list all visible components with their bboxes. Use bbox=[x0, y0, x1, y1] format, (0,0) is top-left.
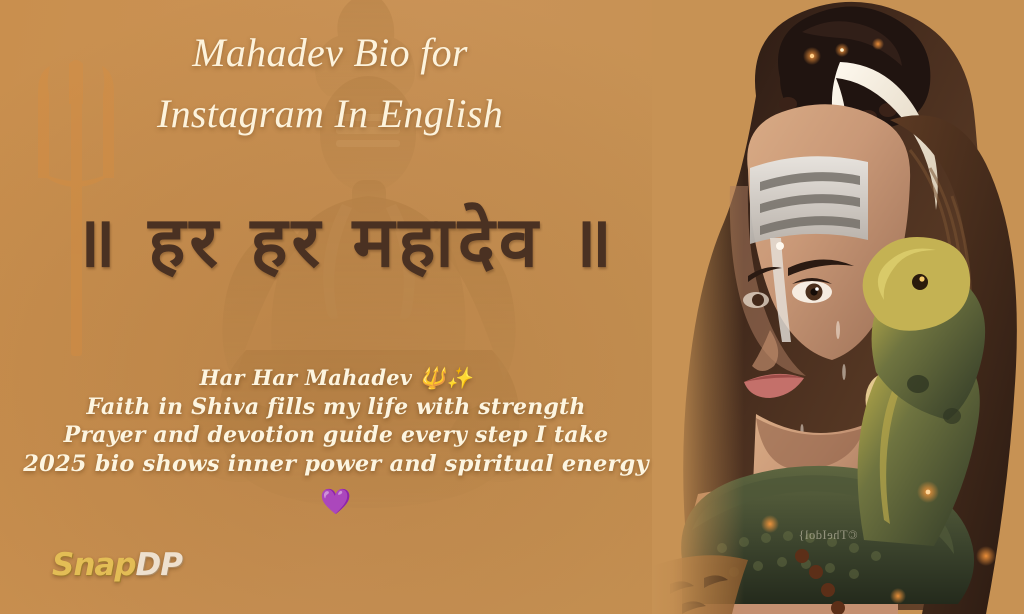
title-line-1: Mahadev Bio for bbox=[192, 30, 468, 75]
purple-heart-icon: 💜 bbox=[0, 488, 672, 517]
logo-text-dp: DP bbox=[136, 547, 182, 583]
mantra-text: ॥ हर हर महादेव ॥ bbox=[0, 196, 690, 288]
title-line-2: Instagram In English bbox=[0, 83, 660, 144]
shiva-portrait-photo bbox=[652, 0, 1024, 614]
bio-line-4: 2025 bio shows inner power and spiritual… bbox=[0, 450, 672, 479]
artist-watermark: ©TheIdol} bbox=[798, 528, 858, 543]
snapdp-logo[interactable]: SnapDP bbox=[52, 546, 182, 584]
page-title: Mahadev Bio for Instagram In English bbox=[0, 22, 660, 144]
bio-line-3: Prayer and devotion guide every step I t… bbox=[0, 421, 672, 450]
bio-line-1: Har Har Mahadev 🔱✨ bbox=[0, 364, 672, 393]
bio-line-2: Faith in Shiva fills my life with streng… bbox=[0, 393, 672, 422]
logo-text-snap: Snap bbox=[52, 547, 136, 583]
bio-quote-block: Har Har Mahadev 🔱✨ Faith in Shiva fills … bbox=[0, 364, 672, 517]
mahadev-bio-banner: Mahadev Bio for Instagram In English ॥ ह… bbox=[0, 0, 1024, 614]
